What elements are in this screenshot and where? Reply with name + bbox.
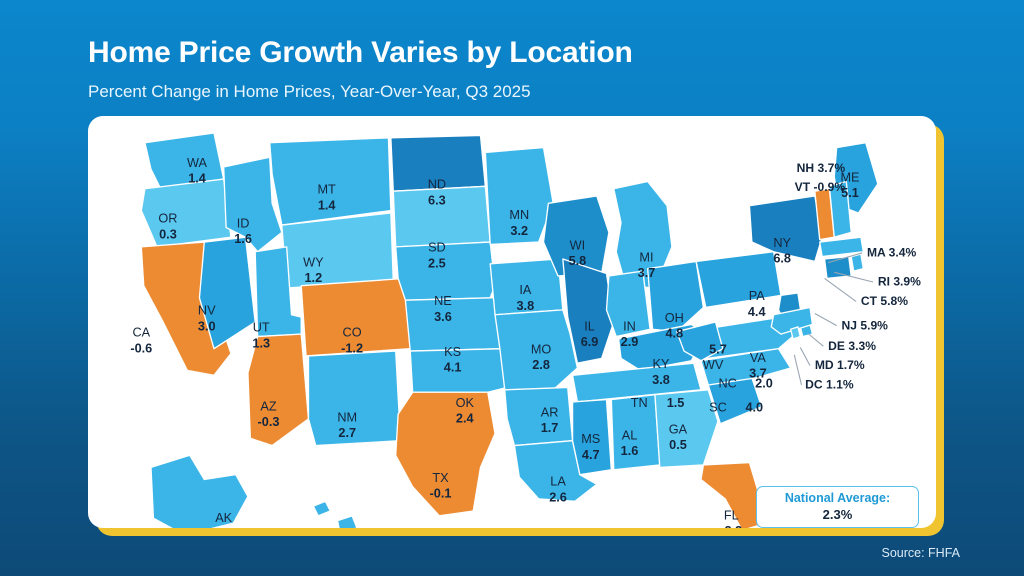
svg-text:WI: WI xyxy=(570,237,586,252)
svg-text:4.1: 4.1 xyxy=(444,360,462,375)
callout-line-nj xyxy=(815,314,837,326)
svg-text:0.3: 0.3 xyxy=(159,226,177,241)
svg-text:2.8: 2.8 xyxy=(532,357,550,372)
svg-text:OR: OR xyxy=(158,211,177,226)
svg-text:NM: NM xyxy=(337,409,357,424)
svg-text:5.7: 5.7 xyxy=(709,341,727,356)
state-label-ak: AK0.9 xyxy=(215,510,233,528)
state-label-ca: CA-0.6 xyxy=(130,325,152,356)
state-ri[interactable] xyxy=(851,254,863,271)
svg-text:AZ: AZ xyxy=(260,398,276,413)
svg-text:0.9: 0.9 xyxy=(215,526,233,528)
svg-text:1.5: 1.5 xyxy=(667,395,685,410)
svg-text:ID: ID xyxy=(237,216,250,231)
svg-text:3.7: 3.7 xyxy=(749,366,767,381)
svg-text:TX: TX xyxy=(432,470,449,485)
state-label-ks: KS4.1 xyxy=(444,344,462,375)
svg-text:5.8: 5.8 xyxy=(569,253,587,268)
svg-text:-0.1: -0.1 xyxy=(430,486,452,501)
svg-text:OH: OH xyxy=(665,310,684,325)
svg-text:IN: IN xyxy=(623,318,636,333)
callout-label-ma: MA 3.4% xyxy=(867,246,917,260)
state-or[interactable] xyxy=(141,179,231,247)
svg-text:FL: FL xyxy=(724,507,739,522)
page-title: Home Price Growth Varies by Location xyxy=(88,36,908,69)
svg-text:0.5: 0.5 xyxy=(669,437,687,452)
svg-text:6.8: 6.8 xyxy=(773,251,791,266)
svg-text:3.7: 3.7 xyxy=(638,265,656,280)
svg-text:VA: VA xyxy=(750,350,767,365)
state-label-ut: UT1.3 xyxy=(252,320,270,351)
svg-text:NE: NE xyxy=(434,293,452,308)
svg-text:ND: ND xyxy=(428,177,446,192)
svg-text:-2.3: -2.3 xyxy=(720,523,742,528)
svg-text:1.6: 1.6 xyxy=(234,231,252,246)
svg-text:CO: CO xyxy=(343,325,362,340)
state-label-ky: KY3.8 xyxy=(652,356,670,387)
svg-text:CA: CA xyxy=(132,325,150,340)
state-wy[interactable] xyxy=(282,213,393,288)
svg-text:MS: MS xyxy=(581,431,600,446)
state-label-sd: SD2.5 xyxy=(428,240,446,271)
svg-text:2.9: 2.9 xyxy=(621,334,639,349)
state-label-va: VA3.7 xyxy=(749,350,767,381)
national-average-value: 2.3% xyxy=(823,507,853,523)
svg-text:WY: WY xyxy=(303,254,324,269)
svg-text:4.4: 4.4 xyxy=(748,304,766,319)
callout-label-de: DE 3.3% xyxy=(828,339,876,353)
national-average-box: National Average: 2.3% xyxy=(756,486,919,528)
svg-text:MO: MO xyxy=(531,341,552,356)
state-dc[interactable] xyxy=(791,327,801,339)
svg-text:3.0: 3.0 xyxy=(198,318,216,333)
callout-label-nj: NJ 5.9% xyxy=(842,318,889,332)
state-label-al: AL1.6 xyxy=(621,428,639,459)
svg-text:MN: MN xyxy=(509,207,529,222)
state-ak[interactable] xyxy=(151,455,248,528)
callout-line-md xyxy=(800,347,810,365)
svg-text:3.6: 3.6 xyxy=(434,309,452,324)
svg-text:2.5: 2.5 xyxy=(428,255,446,270)
svg-text:WA: WA xyxy=(187,155,208,170)
svg-text:IL: IL xyxy=(584,318,595,333)
state-label-mo: MO2.8 xyxy=(531,341,552,372)
state-pa[interactable] xyxy=(696,252,781,308)
svg-text:GA: GA xyxy=(669,421,688,436)
svg-text:IA: IA xyxy=(519,282,532,297)
state-label-nm: NM2.7 xyxy=(337,409,357,440)
state-label-nd: ND6.3 xyxy=(428,177,446,208)
state-label-ny: NY6.8 xyxy=(773,235,791,266)
state-label-co: CO-1.2 xyxy=(341,325,363,356)
state-label-mi: MI3.7 xyxy=(638,249,656,280)
callout-line-ct xyxy=(825,278,856,301)
state-label-nv: NV3.0 xyxy=(198,303,216,334)
state-label-id: ID1.6 xyxy=(234,216,252,247)
svg-text:1.3: 1.3 xyxy=(252,335,270,350)
state-hi[interactable] xyxy=(313,501,386,528)
svg-text:4.0: 4.0 xyxy=(745,400,763,415)
svg-text:1.4: 1.4 xyxy=(188,171,206,186)
svg-text:AK: AK xyxy=(215,510,232,525)
national-average-label: National Average: xyxy=(785,491,890,507)
svg-text:MI: MI xyxy=(639,249,653,264)
svg-text:2.7: 2.7 xyxy=(338,425,356,440)
svg-text:3.8: 3.8 xyxy=(516,298,534,313)
svg-text:1.4: 1.4 xyxy=(318,197,336,212)
svg-text:NV: NV xyxy=(198,303,216,318)
svg-text:AL: AL xyxy=(622,428,638,443)
state-label-pa: PA4.4 xyxy=(748,288,766,319)
svg-text:-0.6: -0.6 xyxy=(130,340,152,355)
svg-text:TN: TN xyxy=(631,395,648,410)
callout-label-nh: NH 3.7% xyxy=(797,161,846,175)
svg-text:6.3: 6.3 xyxy=(428,192,446,207)
svg-text:1.6: 1.6 xyxy=(621,443,639,458)
callout-label-vt: VT -0.9% xyxy=(795,180,846,194)
svg-text:-0.3: -0.3 xyxy=(258,414,280,429)
svg-text:KS: KS xyxy=(444,344,461,359)
svg-text:OK: OK xyxy=(456,395,475,410)
svg-text:1.2: 1.2 xyxy=(304,270,322,285)
state-label-ne: NE3.6 xyxy=(434,293,452,324)
state-label-mt: MT1.4 xyxy=(317,182,336,213)
map-card: WA1.4OR0.3CA-0.6NV3.0ID1.6MT1.4WY1.2UT1.… xyxy=(88,116,936,528)
us-choropleth-map: WA1.4OR0.3CA-0.6NV3.0ID1.6MT1.4WY1.2UT1.… xyxy=(88,116,936,528)
callout-label-ri: RI 3.9% xyxy=(878,275,921,289)
svg-text:UT: UT xyxy=(253,320,270,335)
svg-text:3.2: 3.2 xyxy=(510,223,528,238)
svg-text:SC: SC xyxy=(709,400,727,415)
state-label-in: IN2.9 xyxy=(621,318,639,349)
state-label-ms: MS4.7 xyxy=(581,431,600,462)
svg-text:6.9: 6.9 xyxy=(581,334,599,349)
svg-text:-1.2: -1.2 xyxy=(341,340,363,355)
header: Home Price Growth Varies by Location Per… xyxy=(88,36,908,102)
svg-text:PA: PA xyxy=(749,288,766,303)
map-svg: WA1.4OR0.3CA-0.6NV3.0ID1.6MT1.4WY1.2UT1.… xyxy=(88,116,936,528)
svg-text:4.7: 4.7 xyxy=(582,447,600,462)
state-label-ok: OK2.4 xyxy=(456,395,475,426)
state-label-ga: GA0.5 xyxy=(669,421,688,452)
callout-label-ct: CT 5.8% xyxy=(861,294,908,308)
state-label-la: LA2.6 xyxy=(549,474,567,505)
svg-text:SD: SD xyxy=(428,240,446,255)
state-ar[interactable] xyxy=(505,387,573,445)
svg-text:AR: AR xyxy=(541,404,559,419)
svg-text:MT: MT xyxy=(317,182,336,197)
state-label-tx: TX-0.1 xyxy=(430,470,452,501)
state-label-wa: WA1.4 xyxy=(187,155,208,186)
callout-label-dc: DC 1.1% xyxy=(805,378,854,392)
svg-text:3.8: 3.8 xyxy=(652,372,670,387)
callout-label-md: MD 1.7% xyxy=(815,358,865,372)
svg-text:KY: KY xyxy=(653,356,670,371)
state-label-wi: WI5.8 xyxy=(569,237,587,268)
state-label-az: AZ-0.3 xyxy=(258,398,280,429)
svg-text:4.8: 4.8 xyxy=(665,326,683,341)
page-subtitle: Percent Change in Home Prices, Year-Over… xyxy=(88,82,908,102)
state-label-or: OR0.3 xyxy=(158,211,177,242)
svg-text:LA: LA xyxy=(550,474,566,489)
source-attribution: Source: FHFA xyxy=(882,546,961,560)
svg-text:NY: NY xyxy=(773,235,791,250)
slide-root: Home Price Growth Varies by Location Per… xyxy=(0,0,1024,576)
state-label-wy: WY1.2 xyxy=(303,254,324,285)
svg-text:NC: NC xyxy=(718,375,736,390)
svg-text:2.4: 2.4 xyxy=(456,411,474,426)
state-label-ar: AR1.7 xyxy=(541,404,559,435)
state-ma[interactable] xyxy=(820,237,864,256)
state-label-mn: MN3.2 xyxy=(509,207,529,238)
svg-text:2.6: 2.6 xyxy=(549,489,567,504)
svg-text:1.7: 1.7 xyxy=(541,420,559,435)
svg-text:WV: WV xyxy=(703,357,724,372)
callout-line-de xyxy=(809,334,824,346)
state-label-oh: OH4.8 xyxy=(665,310,684,341)
callout-line-dc xyxy=(794,355,801,385)
